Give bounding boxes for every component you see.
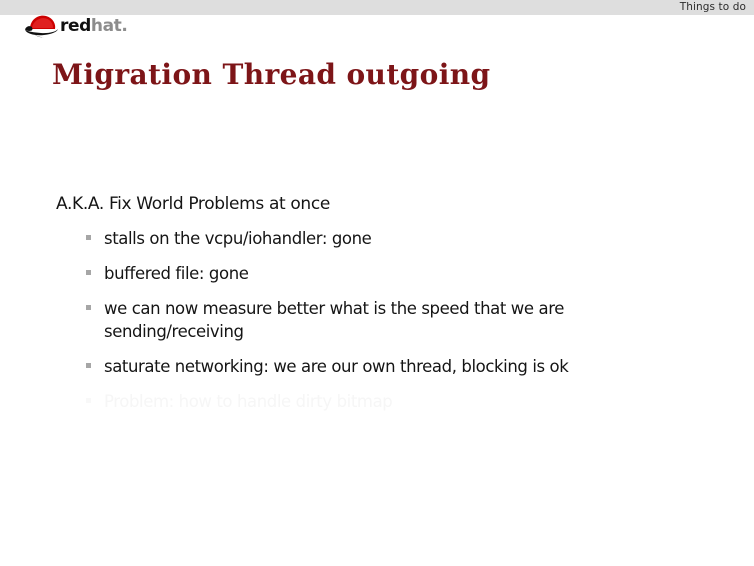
redhat-wordmark: redhat. [60,16,127,36]
slide-body: A.K.A. Fix World Problems at once stalls… [0,194,754,425]
square-bullet-icon [86,363,91,368]
bullet-list: stalls on the vcpu/iohandler: gone buffe… [0,227,754,413]
list-item: saturate networking: we are our own thre… [86,355,684,378]
list-item-label: saturate networking: we are our own thre… [104,357,568,376]
list-item-label: buffered file: gone [104,264,249,283]
square-bullet-icon [86,235,91,240]
list-item-label: stalls on the vcpu/iohandler: gone [104,229,371,248]
logo-word-hat: hat [91,16,122,36]
list-item-hidden: Problem: how to handle dirty bitmap [86,390,684,413]
slide-canvas: Things to do redhat. Migration Thread ou… [0,0,754,566]
square-bullet-icon [86,398,91,403]
list-item-label: Problem: how to handle dirty bitmap [104,392,392,411]
logo-word-red: red [60,16,91,36]
list-item: stalls on the vcpu/iohandler: gone [86,227,684,250]
logo-word-dot: . [121,16,127,36]
redhat-logo: redhat. [20,12,135,40]
section-title: Things to do [680,0,746,15]
redhat-shadowman-icon [20,12,64,38]
lead-line: A.K.A. Fix World Problems at once [56,194,754,215]
page-title: Migration Thread outgoing [52,58,490,91]
square-bullet-icon [86,305,91,310]
list-item-label: we can now measure better what is the sp… [104,299,564,341]
square-bullet-icon [86,270,91,275]
list-item: we can now measure better what is the sp… [86,297,684,343]
list-item: buffered file: gone [86,262,684,285]
